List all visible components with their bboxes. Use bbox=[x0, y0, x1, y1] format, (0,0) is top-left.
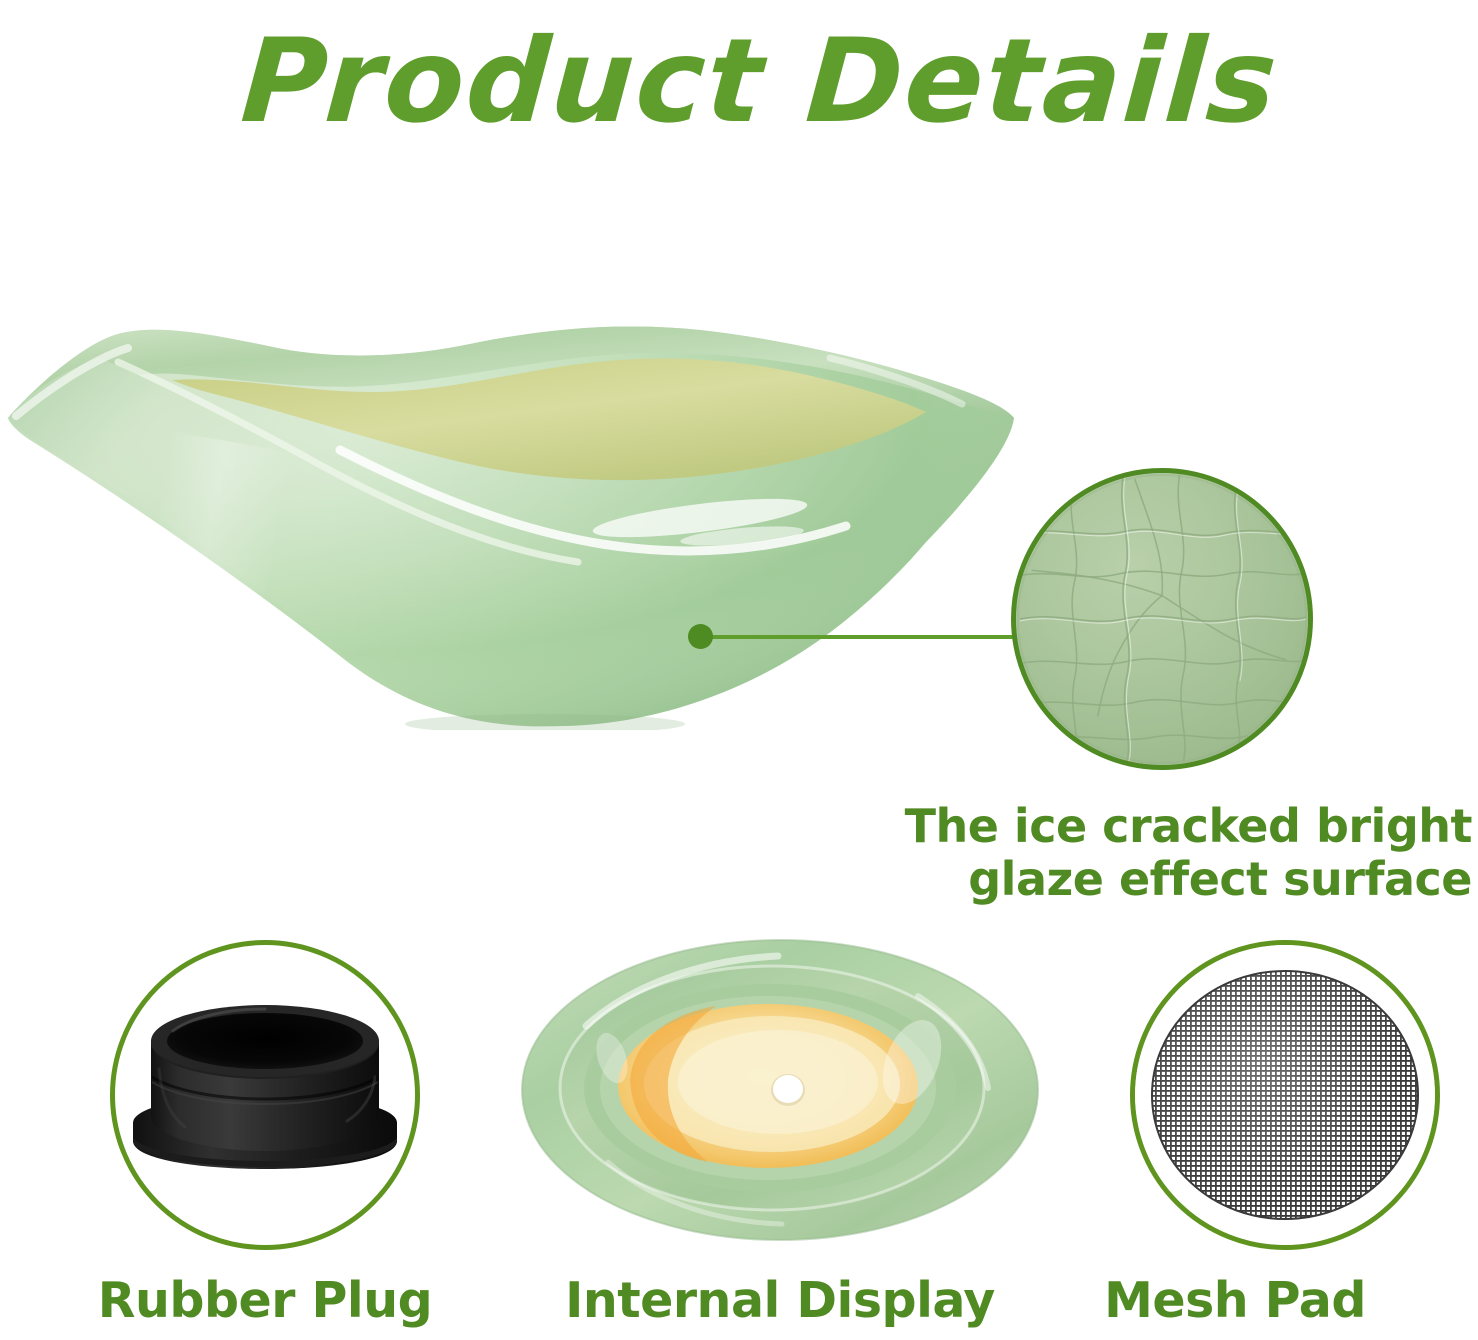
feature-label-mesh-pad: Mesh Pad bbox=[1000, 1272, 1470, 1329]
product-details-page: Product Details bbox=[0, 0, 1478, 1340]
callout-dot-icon bbox=[688, 624, 713, 649]
feature-rubber-plug bbox=[110, 940, 420, 1250]
internal-display-icon bbox=[520, 930, 1040, 1250]
callout-text-line2: glaze effect surface bbox=[780, 853, 1472, 906]
feature-label-internal-display: Internal Display bbox=[520, 1272, 1040, 1329]
feature-label-rubber-plug: Rubber Plug bbox=[0, 1272, 530, 1329]
callout-text-line1: The ice cracked bright bbox=[905, 799, 1472, 853]
crackle-glaze-icon bbox=[1011, 468, 1313, 770]
feature-mesh-pad bbox=[1130, 940, 1440, 1250]
rubber-plug-icon bbox=[110, 940, 420, 1250]
mesh-pad-icon bbox=[1130, 940, 1440, 1250]
callout-text: The ice cracked bright glaze effect surf… bbox=[780, 800, 1472, 906]
hero-product-image bbox=[0, 300, 1020, 730]
page-title: Product Details bbox=[145, 18, 1374, 148]
feature-internal-display bbox=[520, 930, 1040, 1250]
callout-connector-line bbox=[706, 635, 1016, 639]
